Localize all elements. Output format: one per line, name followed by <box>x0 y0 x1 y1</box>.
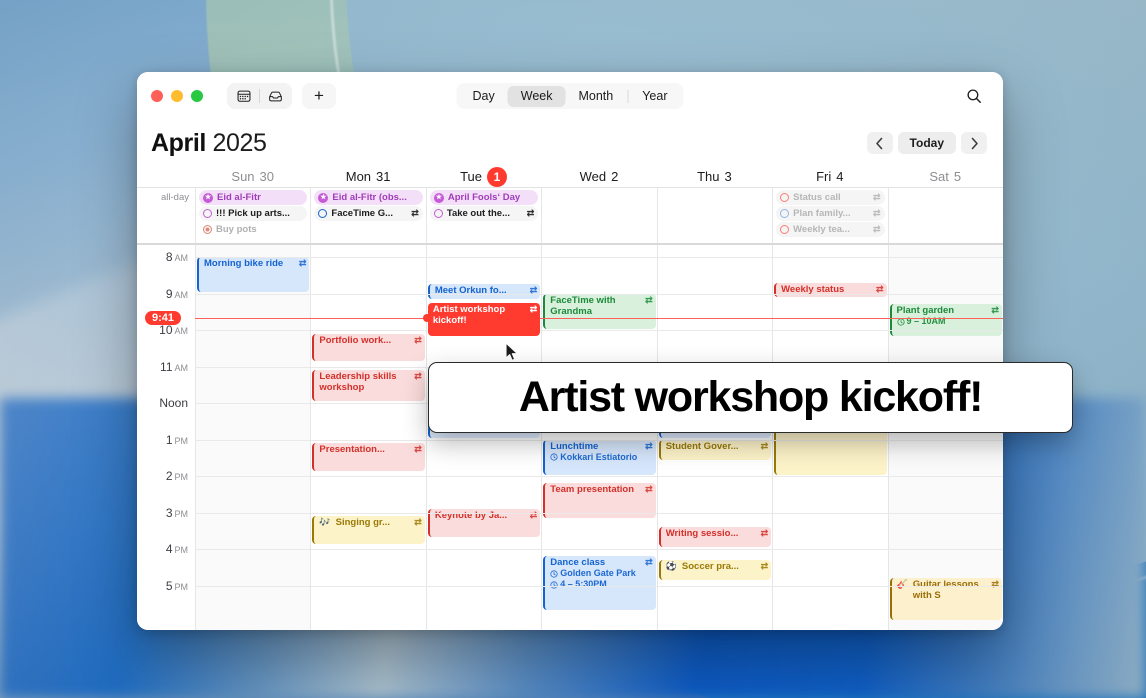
hour-line <box>195 549 1003 550</box>
day-header-sat[interactable]: Sat5 <box>888 166 1003 187</box>
reminder-circle-icon <box>434 209 443 218</box>
all-day-column: ★Eid al-Fitr (obs...FaceTime G...⇄ <box>310 188 425 243</box>
all-day-event-title: Eid al-Fitr <box>217 192 303 203</box>
event-title-row: Team presentation⇄ <box>550 484 652 495</box>
time-label-period: AM <box>175 290 189 300</box>
day-number: 3 <box>724 169 731 184</box>
event-title: Morning bike ride <box>204 258 296 269</box>
all-day-event[interactable]: ★Eid al-Fitr (obs... <box>314 190 422 205</box>
all-day-column: Status call⇄Plan family...⇄Weekly tea...… <box>772 188 887 243</box>
repeat-icon: ⇄ <box>411 208 419 219</box>
day-columns: Morning bike ride⇄Portfolio work...⇄Lead… <box>195 245 1003 630</box>
all-day-event-title: Eid al-Fitr (obs... <box>332 192 418 203</box>
calendar-event[interactable]: Weekly status⇄ <box>774 283 886 298</box>
event-title: Keynote by Ja... <box>435 510 527 521</box>
calendar-event[interactable]: Portfolio work...⇄ <box>312 334 424 362</box>
day-header-gutter <box>137 166 195 187</box>
time-label: 9AM <box>166 287 188 301</box>
time-label-period: PM <box>175 545 189 555</box>
reminder-circle-icon <box>780 209 789 218</box>
repeat-icon: ⇄ <box>530 304 538 315</box>
hour-line <box>195 586 1003 587</box>
event-title: Team presentation <box>550 484 642 495</box>
repeat-icon: ⇄ <box>645 557 653 568</box>
event-meta: Golden Gate Park <box>550 568 652 579</box>
repeat-icon: ⇄ <box>414 444 422 455</box>
calendar-event[interactable]: Presentation...⇄ <box>312 443 424 471</box>
time-label-hour: 11 <box>160 360 172 374</box>
hour-line <box>195 476 1003 477</box>
time-label: 5PM <box>166 579 188 593</box>
calendar-event[interactable]: Writing sessio...⇄ <box>659 527 771 547</box>
repeat-icon: ⇄ <box>414 335 422 346</box>
event-meta-text: 9 – 10AM <box>907 316 946 327</box>
page-title: April 2025 <box>151 129 267 158</box>
calendar-event[interactable]: Dance class⇄Golden Gate Park4 – 5:30PM <box>543 556 655 609</box>
all-day-event-title: Plan family... <box>793 208 869 219</box>
time-label: Noon <box>159 396 188 410</box>
time-label-hour: 4 <box>166 542 173 556</box>
repeat-icon: ⇄ <box>761 528 769 539</box>
event-title-row: FaceTime with Grandma⇄ <box>550 295 652 317</box>
day-number: 2 <box>611 169 618 184</box>
day-header-tue[interactable]: Tue1 <box>426 166 541 187</box>
time-grid[interactable]: 8AM9AM10AM11AMNoon1PM2PM3PM4PM5PM Mornin… <box>137 245 1003 630</box>
event-title-row: Presentation...⇄ <box>319 444 421 455</box>
year-value: 2025 <box>213 129 267 157</box>
view-mode-week[interactable]: Week <box>508 86 566 107</box>
day-column-sun[interactable]: Morning bike ride⇄ <box>195 245 310 630</box>
day-header-wed[interactable]: Wed2 <box>541 166 656 187</box>
day-header-sun[interactable]: Sun30 <box>195 166 310 187</box>
event-title-row: 🎶Singing gr...⇄ <box>319 517 421 528</box>
event-title: Singing gr... <box>336 517 412 528</box>
event-title-row: Morning bike ride⇄ <box>204 258 306 269</box>
repeat-icon: ⇄ <box>873 224 881 235</box>
all-day-event-title: Weekly tea... <box>793 224 869 235</box>
all-day-row: all-day ★Eid al-Fitr!!! Pick up arts...B… <box>137 188 1003 245</box>
time-label: 4PM <box>166 542 188 556</box>
today-date-badge: 1 <box>487 167 507 187</box>
repeat-icon: ⇄ <box>530 510 538 521</box>
all-day-event-title: !!! Pick up arts... <box>216 208 303 219</box>
all-day-event[interactable]: ★April Fools‘ Day <box>430 190 538 205</box>
event-title-row: Student Gover...⇄ <box>666 441 768 452</box>
repeat-icon: ⇄ <box>761 561 769 572</box>
holiday-star-icon: ★ <box>203 193 213 203</box>
time-label-hour: 2 <box>166 469 173 483</box>
calendar-event[interactable]: Meet Orkun fo...⇄ <box>428 284 540 299</box>
repeat-icon: ⇄ <box>530 285 538 296</box>
event-title-row: Keynote by Ja...⇄ <box>435 510 537 521</box>
repeat-icon: ⇄ <box>761 441 769 452</box>
view-mode-switcher: Day Week Month Year <box>457 83 684 109</box>
event-title-row: Meet Orkun fo...⇄ <box>435 285 537 296</box>
view-mode-divider <box>627 90 628 103</box>
all-day-event[interactable]: Take out the...⇄ <box>430 206 538 221</box>
calendar-event[interactable]: ⚽Soccer pra...⇄ <box>659 560 771 580</box>
event-title: Student Gover... <box>666 441 758 452</box>
day-name: Sun <box>231 169 254 184</box>
event-title-row: Plant garden⇄ <box>897 305 999 316</box>
event-title-row: ⚽Soccer pra...⇄ <box>666 561 768 572</box>
all-day-column <box>541 188 656 243</box>
repeat-icon: ⇄ <box>299 258 307 269</box>
time-label: 1PM <box>166 433 188 447</box>
time-label-period: AM <box>175 326 189 336</box>
event-title: Meet Orkun fo... <box>435 285 527 296</box>
day-number: 5 <box>954 169 961 184</box>
day-header-thu[interactable]: Thu3 <box>657 166 772 187</box>
inbox-icon[interactable] <box>260 85 290 107</box>
repeat-icon: ⇄ <box>527 208 535 219</box>
date-navigation: Today <box>867 132 987 154</box>
day-name: Wed <box>580 169 607 184</box>
calendar-event[interactable]: 🎶Singing gr...⇄ <box>312 516 424 544</box>
repeat-icon: ⇄ <box>645 295 653 306</box>
holiday-star-icon: ★ <box>434 193 444 203</box>
holiday-star-icon: ★ <box>318 193 328 203</box>
all-day-label: all-day <box>137 188 195 243</box>
reminder-circle-icon <box>203 225 212 234</box>
time-label: 2PM <box>166 469 188 483</box>
hour-line <box>195 294 1003 295</box>
close-button[interactable] <box>151 90 163 102</box>
current-time-label: 9:41 <box>145 311 181 325</box>
time-label-hour: 3 <box>166 506 173 520</box>
day-header-fri[interactable]: Fri4 <box>772 166 887 187</box>
day-name: Tue <box>460 169 482 184</box>
minimize-button[interactable] <box>171 90 183 102</box>
event-title: Leadership skills workshop <box>319 371 411 393</box>
time-label-period: AM <box>175 363 189 373</box>
event-title-row: Leadership skills workshop⇄ <box>319 371 421 393</box>
all-day-event[interactable]: !!! Pick up arts... <box>199 206 307 221</box>
window-titlebar: + Day Week Month Year <box>137 72 1003 120</box>
view-mode-day[interactable]: Day <box>460 86 508 107</box>
all-day-event[interactable]: Status call⇄ <box>776 190 884 205</box>
time-label-period: PM <box>175 582 189 592</box>
all-day-column <box>657 188 772 243</box>
repeat-icon: ⇄ <box>873 192 881 203</box>
event-title-row: Dance class⇄ <box>550 557 652 568</box>
all-day-event[interactable]: Weekly tea...⇄ <box>776 222 884 237</box>
event-title: Plant garden <box>897 305 989 316</box>
all-day-column: ★April Fools‘ DayTake out the...⇄ <box>426 188 541 243</box>
repeat-icon: ⇄ <box>645 441 653 452</box>
event-meta-text: Golden Gate Park <box>560 568 636 579</box>
repeat-icon: ⇄ <box>991 305 999 316</box>
day-name: Sat <box>929 169 949 184</box>
event-title: Writing sessio... <box>666 528 758 539</box>
mouse-cursor <box>505 342 519 362</box>
day-column-thu[interactable]: 11AM – 1PMStudent Gover...⇄Writing sessi… <box>657 245 772 630</box>
chevron-left-icon[interactable] <box>867 132 893 154</box>
time-label-hour: 5 <box>166 579 173 593</box>
time-label-period: PM <box>175 509 189 519</box>
calendar-event[interactable]: Morning bike ride⇄ <box>197 257 309 292</box>
event-title: Dance class <box>550 557 642 568</box>
event-meta: Kokkari Estiatorio <box>550 452 652 463</box>
all-day-event-title: Take out the... <box>447 208 523 219</box>
reminder-circle-icon <box>780 225 789 234</box>
view-mode-year[interactable]: Year <box>629 86 680 107</box>
hour-line <box>195 440 1003 441</box>
all-day-event-title: FaceTime G... <box>331 208 407 219</box>
month-name: April <box>151 129 206 157</box>
toolbar-view-group <box>227 83 292 109</box>
reminder-circle-icon <box>780 193 789 202</box>
event-title-row: Lunchtime⇄ <box>550 441 652 452</box>
time-label-period: PM <box>175 472 189 482</box>
add-event-button[interactable]: + <box>302 83 336 109</box>
month-header: April 2025 Today <box>137 120 1003 166</box>
all-day-event-title: April Fools‘ Day <box>448 192 534 203</box>
day-name: Fri <box>816 169 831 184</box>
calendar-icon[interactable] <box>229 85 259 107</box>
event-title: FaceTime with Grandma <box>550 295 642 317</box>
all-day-column: ★Eid al-Fitr!!! Pick up arts...Buy pots <box>195 188 310 243</box>
calendar-event[interactable]: Student Gover...⇄ <box>659 440 771 460</box>
day-column-tue[interactable]: Meet Orkun fo...⇄Artist workshop kickoff… <box>426 245 541 630</box>
all-day-column <box>888 188 1003 243</box>
day-header-row: Sun30Mon31Tue1Wed2Thu3Fri4Sat5 <box>137 166 1003 188</box>
event-title: Soccer pra... <box>682 561 758 572</box>
time-label-period: AM <box>175 253 189 263</box>
traffic-lights <box>151 90 203 102</box>
calendar-event[interactable]: Leadership skills workshop⇄ <box>312 370 424 401</box>
time-label-hour: 8 <box>166 250 173 264</box>
all-day-event[interactable]: FaceTime G...⇄ <box>314 206 422 221</box>
time-label: 3PM <box>166 506 188 520</box>
day-column-mon[interactable]: Portfolio work...⇄Leadership skills work… <box>310 245 425 630</box>
all-day-event[interactable]: Plan family...⇄ <box>776 206 884 221</box>
calendar-event[interactable]: Lunchtime⇄Kokkari Estiatorio <box>543 440 655 475</box>
all-day-event-title: Buy pots <box>216 224 303 235</box>
search-icon[interactable] <box>959 83 989 109</box>
event-title: Presentation... <box>319 444 411 455</box>
zoom-button[interactable] <box>191 90 203 102</box>
reminder-circle-icon <box>203 209 212 218</box>
repeat-icon: ⇄ <box>645 484 653 495</box>
day-number: 4 <box>836 169 843 184</box>
current-time-dot <box>423 314 431 322</box>
day-number: 31 <box>376 169 390 184</box>
day-name: Mon <box>346 169 371 184</box>
event-title: Portfolio work... <box>319 335 411 346</box>
chevron-right-icon[interactable] <box>961 132 987 154</box>
today-button[interactable]: Today <box>898 132 956 154</box>
day-column-wed[interactable]: FaceTime with Grandma⇄Lunchtime⇄Kokkari … <box>541 245 656 630</box>
view-mode-month[interactable]: Month <box>565 86 626 107</box>
event-title: Guitar lessons with S <box>913 579 989 601</box>
time-label-hour: 9 <box>166 287 173 301</box>
reminder-circle-icon <box>318 209 327 218</box>
calendar-event[interactable]: Plant garden⇄9 – 10AM <box>890 304 1002 335</box>
time-label: 11AM <box>160 360 188 374</box>
hour-line <box>195 257 1003 258</box>
calendar-window: + Day Week Month Year April 2025 Today <box>137 72 1003 630</box>
day-column-sat[interactable]: Plant garden⇄9 – 10AM🎸Guitar lessons wit… <box>888 245 1003 630</box>
event-title-row: Portfolio work...⇄ <box>319 335 421 346</box>
event-emoji-icon: ⚽ <box>666 561 677 572</box>
day-column-fri[interactable]: Weekly status⇄Sign Language Club⇄12 – 2P… <box>772 245 887 630</box>
time-label-hour: Noon <box>159 396 188 410</box>
event-title-row: Artist workshop kickoff!⇄ <box>433 304 537 326</box>
event-emoji-icon: 🎶 <box>319 517 330 528</box>
time-axis: 8AM9AM10AM11AMNoon1PM2PM3PM4PM5PM <box>137 245 195 630</box>
hour-line <box>195 330 1003 331</box>
all-day-event-title: Status call <box>793 192 869 203</box>
event-title: Lunchtime <box>550 441 642 452</box>
calendar-event[interactable]: Artist workshop kickoff!⇄ <box>428 303 540 336</box>
event-title: Artist workshop kickoff! <box>433 304 527 326</box>
event-meta-text: Kokkari Estiatorio <box>560 452 637 463</box>
day-name: Thu <box>697 169 719 184</box>
time-label-period: PM <box>175 436 189 446</box>
calendar-event[interactable]: FaceTime with Grandma⇄ <box>543 294 655 329</box>
time-label-hour: 1 <box>166 433 173 447</box>
zoom-callout: Artist workshop kickoff! <box>428 362 1073 433</box>
event-meta: 9 – 10AM <box>897 316 999 327</box>
all-day-event[interactable]: ★Eid al-Fitr <box>199 190 307 205</box>
repeat-icon: ⇄ <box>414 517 422 528</box>
all-day-event[interactable]: Buy pots <box>199 222 307 237</box>
repeat-icon: ⇄ <box>873 208 881 219</box>
event-title-row: 🎸Guitar lessons with S⇄ <box>897 579 999 601</box>
hour-line <box>195 513 1003 514</box>
event-title-row: Writing sessio...⇄ <box>666 528 768 539</box>
repeat-icon: ⇄ <box>414 371 422 382</box>
day-number: 30 <box>260 169 274 184</box>
callout-text: Artist workshop kickoff! <box>519 373 982 422</box>
day-header-mon[interactable]: Mon31 <box>310 166 425 187</box>
time-label: 8AM <box>166 250 188 264</box>
